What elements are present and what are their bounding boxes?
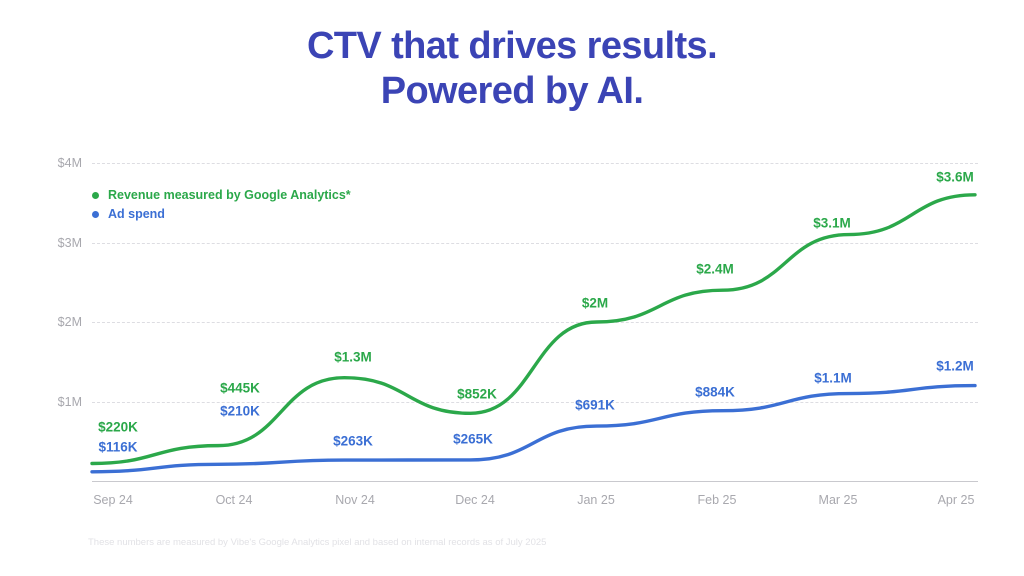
revenue-label-mar25: $3.1M <box>813 216 851 231</box>
adspend-label-nov24: $263K <box>333 434 373 449</box>
legend-dot-revenue <box>92 192 99 199</box>
chart-legend: Revenue measured by Google Analytics* Ad… <box>92 188 351 226</box>
adspend-line <box>92 386 975 472</box>
adspend-label-jan25: $691K <box>575 398 615 413</box>
adspend-label-sep24: $116K <box>98 440 137 455</box>
legend-dot-adspend <box>92 211 99 218</box>
legend-label-revenue: Revenue measured by Google Analytics* <box>108 188 351 202</box>
adspend-label-oct24: $210K <box>220 404 260 419</box>
revenue-label-sep24: $220K <box>98 420 138 435</box>
revenue-label-feb25: $2.4M <box>696 262 734 277</box>
revenue-label-dec24: $852K <box>457 387 497 402</box>
line-chart: $4M $3M $2M $1M Sep 24 Oct 24 Nov 24 Dec… <box>0 0 1024 576</box>
revenue-line <box>92 195 975 464</box>
legend-item-revenue[interactable]: Revenue measured by Google Analytics* <box>92 188 351 202</box>
adspend-label-feb25: $884K <box>695 385 735 400</box>
adspend-label-dec24: $265K <box>453 432 493 447</box>
series-lines <box>0 0 1024 576</box>
slide-root: CTV that drives results. Powered by AI. … <box>0 0 1024 576</box>
adspend-label-mar25: $1.1M <box>814 371 852 386</box>
revenue-label-nov24: $1.3M <box>334 350 372 365</box>
revenue-label-apr25: $3.6M <box>936 170 974 185</box>
revenue-label-oct24: $445K <box>220 381 260 396</box>
legend-label-adspend: Ad spend <box>108 207 165 221</box>
adspend-label-apr25: $1.2M <box>936 359 974 374</box>
footnote: These numbers are measured by Vibe's Goo… <box>88 537 546 548</box>
legend-item-adspend[interactable]: Ad spend <box>92 207 351 221</box>
revenue-label-jan25: $2M <box>582 296 608 311</box>
